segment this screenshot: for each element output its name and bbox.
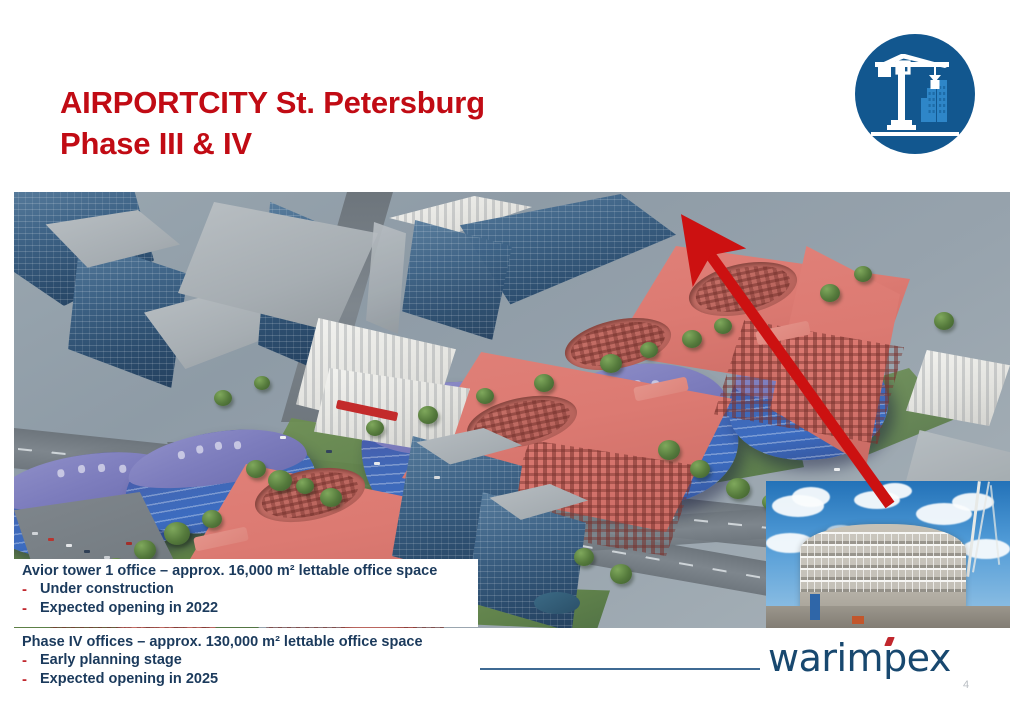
tree — [246, 460, 266, 478]
car — [48, 538, 54, 541]
tree — [600, 354, 622, 373]
tree — [268, 470, 292, 491]
callout-avior-tower: Avior tower 1 office – approx. 16,000 m²… — [22, 563, 437, 616]
avior-tower-construction-photo — [766, 481, 1010, 628]
callout-bullet-label: Under construction — [40, 582, 174, 598]
tree — [534, 374, 554, 392]
tree — [134, 540, 156, 560]
tree — [934, 312, 954, 330]
callout-phase-iv: Phase IV offices – approx. 130,000 m² le… — [22, 634, 423, 687]
tree — [254, 376, 270, 390]
callout-bullet: - Expected opening in 2022 — [22, 601, 437, 617]
callout-bullet-label: Expected opening in 2022 — [40, 601, 218, 617]
tree — [690, 460, 710, 478]
callout-bullet: - Under construction — [22, 582, 437, 598]
construction-ground — [766, 606, 1010, 628]
callout-heading: Avior tower 1 office – approx. 16,000 m²… — [22, 563, 437, 579]
dash-bullet-icon: - — [22, 672, 31, 687]
title-line-1: AIRPORTCITY St. Petersburg — [60, 82, 760, 123]
tree — [640, 342, 658, 358]
callout-bullet-label: Early planning stage — [40, 653, 182, 669]
tree — [476, 388, 494, 404]
tree — [682, 330, 702, 348]
callout-bullet: - Early planning stage — [22, 653, 423, 669]
page-number: 4 — [963, 679, 969, 691]
tree — [296, 478, 314, 494]
tree — [164, 522, 190, 545]
car — [32, 532, 38, 535]
tree — [854, 266, 872, 282]
presentation-slide: AIRPORTCITY St. Petersburg Phase III & I… — [0, 0, 1024, 724]
car — [434, 476, 440, 479]
site-equipment — [852, 616, 864, 624]
car — [834, 468, 840, 471]
dash-bullet-icon: - — [22, 601, 31, 616]
car — [66, 544, 72, 547]
tree — [658, 440, 680, 460]
tree — [202, 510, 222, 528]
car — [280, 436, 286, 439]
tree — [214, 390, 232, 406]
tree — [820, 284, 840, 302]
tree — [726, 478, 750, 499]
car — [374, 462, 380, 465]
crane-badge-logo — [853, 32, 977, 156]
tree — [418, 406, 438, 424]
warimpex-wordmark: warimpex — [768, 636, 951, 680]
callout-bullet: - Expected opening in 2025 — [22, 672, 423, 688]
site-panel — [810, 594, 820, 620]
car — [126, 542, 132, 545]
car — [84, 550, 90, 553]
title-line-2: Phase III & IV — [60, 123, 760, 164]
tree — [574, 548, 594, 566]
dash-bullet-icon: - — [22, 653, 31, 668]
crane-icon — [853, 32, 977, 156]
callout-bullet-label: Expected opening in 2025 — [40, 672, 218, 688]
page-title: AIRPORTCITY St. Petersburg Phase III & I… — [60, 82, 760, 164]
tree — [714, 318, 732, 334]
dash-bullet-icon: - — [22, 582, 31, 597]
car — [326, 450, 332, 453]
footer-divider — [480, 668, 760, 670]
tree — [320, 488, 342, 507]
tree — [366, 420, 384, 436]
pond — [534, 592, 580, 614]
callout-heading: Phase IV offices – approx. 130,000 m² le… — [22, 634, 423, 650]
tree — [610, 564, 632, 584]
